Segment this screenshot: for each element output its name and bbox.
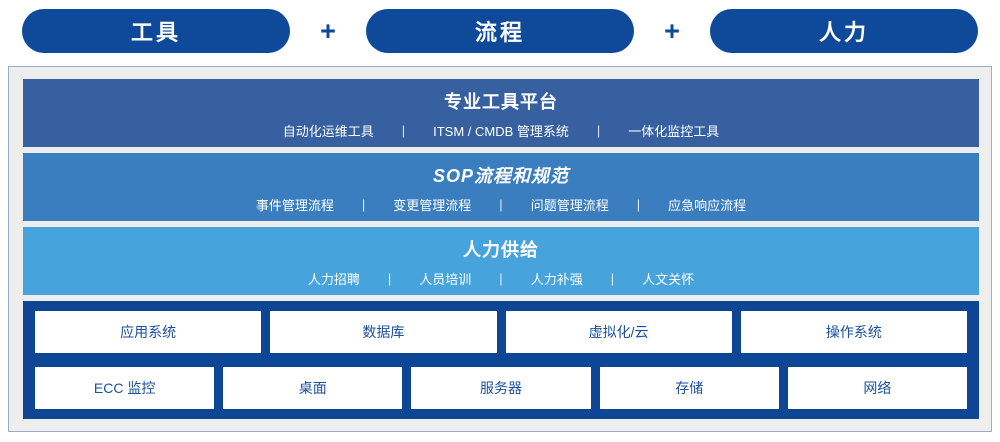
- layer-item: 自动化运维工具: [269, 121, 388, 140]
- infra-box-virtualization-cloud[interactable]: 虚拟化/云: [506, 311, 732, 353]
- layer-item: 人力补强: [517, 269, 597, 288]
- infra-box-network[interactable]: 网络: [788, 367, 967, 409]
- layer-sop-process-items: 事件管理流程 | 变更管理流程 | 问题管理流程 | 应急响应流程: [242, 195, 760, 214]
- item-separator: |: [583, 123, 614, 138]
- item-separator: |: [485, 271, 516, 286]
- layer-tool-platform: 专业工具平台 自动化运维工具 | ITSM / CMDB 管理系统 | 一体化监…: [23, 79, 979, 147]
- infra-box-application-system[interactable]: 应用系统: [35, 311, 261, 353]
- layer-item: 应急响应流程: [654, 195, 760, 214]
- infra-box-storage[interactable]: 存储: [600, 367, 779, 409]
- layer-sop-process-title: SOP流程和规范: [433, 162, 569, 188]
- infra-box-database[interactable]: 数据库: [270, 311, 496, 353]
- layer-manpower-supply-items: 人力招聘 | 人员培训 | 人力补强 | 人文关怀: [294, 269, 708, 288]
- item-separator: |: [597, 271, 628, 286]
- layer-item: 人员培训: [405, 269, 485, 288]
- plus-operator-2: +: [634, 18, 710, 45]
- infrastructure-row-1: 应用系统 数据库 虚拟化/云 操作系统: [35, 311, 967, 353]
- infra-box-desktop[interactable]: 桌面: [223, 367, 402, 409]
- item-separator: |: [623, 197, 654, 212]
- layer-item: 人力招聘: [294, 269, 374, 288]
- formula-row: 工具 + 流程 + 人力: [0, 0, 1000, 62]
- plus-operator-1: +: [290, 18, 366, 45]
- architecture-panel: 专业工具平台 自动化运维工具 | ITSM / CMDB 管理系统 | 一体化监…: [8, 66, 992, 432]
- pill-manpower-label: 人力: [819, 15, 869, 47]
- item-separator: |: [348, 197, 379, 212]
- item-separator: |: [374, 271, 405, 286]
- infra-box-server[interactable]: 服务器: [411, 367, 590, 409]
- pill-process-label: 流程: [475, 15, 525, 47]
- infra-box-operating-system[interactable]: 操作系统: [741, 311, 967, 353]
- item-separator: |: [388, 123, 419, 138]
- layer-item: 一体化监控工具: [614, 121, 733, 140]
- item-separator: |: [485, 197, 516, 212]
- pill-process[interactable]: 流程: [366, 9, 634, 53]
- layer-item: ITSM / CMDB 管理系统: [419, 121, 583, 140]
- layer-item: 人文关怀: [628, 269, 708, 288]
- infra-box-ecc-monitoring[interactable]: ECC 监控: [35, 367, 214, 409]
- layer-manpower-supply-title: 人力供给: [463, 236, 539, 262]
- layer-tool-platform-items: 自动化运维工具 | ITSM / CMDB 管理系统 | 一体化监控工具: [269, 121, 734, 140]
- layer-item: 事件管理流程: [242, 195, 348, 214]
- layer-sop-process: SOP流程和规范 事件管理流程 | 变更管理流程 | 问题管理流程 | 应急响应…: [23, 153, 979, 221]
- pill-manpower[interactable]: 人力: [710, 9, 978, 53]
- pill-tools-label: 工具: [131, 15, 181, 47]
- layer-tool-platform-title: 专业工具平台: [444, 88, 558, 114]
- layer-item: 变更管理流程: [379, 195, 485, 214]
- pill-tools[interactable]: 工具: [22, 9, 290, 53]
- layer-manpower-supply: 人力供给 人力招聘 | 人员培训 | 人力补强 | 人文关怀: [23, 227, 979, 295]
- infrastructure-block: 应用系统 数据库 虚拟化/云 操作系统 ECC 监控 桌面 服务器 存储 网络: [23, 301, 979, 419]
- infrastructure-row-2: ECC 监控 桌面 服务器 存储 网络: [35, 367, 967, 409]
- layer-item: 问题管理流程: [517, 195, 623, 214]
